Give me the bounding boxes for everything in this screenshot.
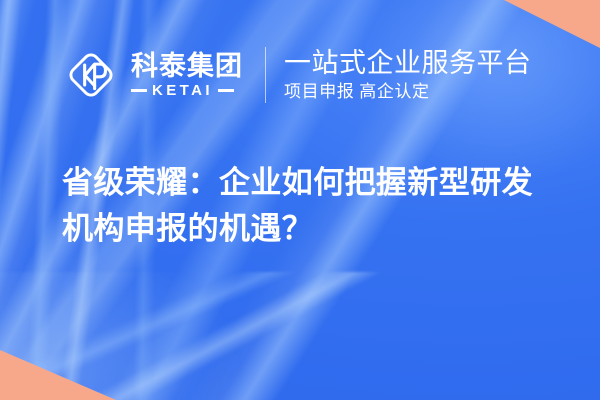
brand-logo-lockup[interactable]: 科泰集团 KETAI [62,46,243,104]
tagline-main: 一站式企业服务平台 [284,48,532,78]
brand-name-en: KETAI [152,83,213,98]
dash-right-icon [218,89,234,92]
brand-wordmark: 科泰集团 KETAI [131,52,243,98]
header-divider [265,47,266,103]
tagline-block: 一站式企业服务平台 项目申报 高企认定 [284,48,532,103]
tagline-sub: 项目申报 高企认定 [284,82,532,102]
promo-banner: 科泰集团 KETAI 一站式企业服务平台 项目申报 高企认定 省级荣耀：企业如何… [0,0,600,400]
brand-name-en-row: KETAI [131,83,243,98]
dash-left-icon [131,89,147,92]
ketai-diamond-kp-monogram-icon [62,46,120,104]
banner-header: 科泰集团 KETAI 一站式企业服务平台 项目申报 高企认定 [62,46,532,104]
headline-title: 省级荣耀：企业如何把握新型研发机构申报的机遇？ [62,160,562,252]
brand-name-cn: 科泰集团 [131,52,243,80]
